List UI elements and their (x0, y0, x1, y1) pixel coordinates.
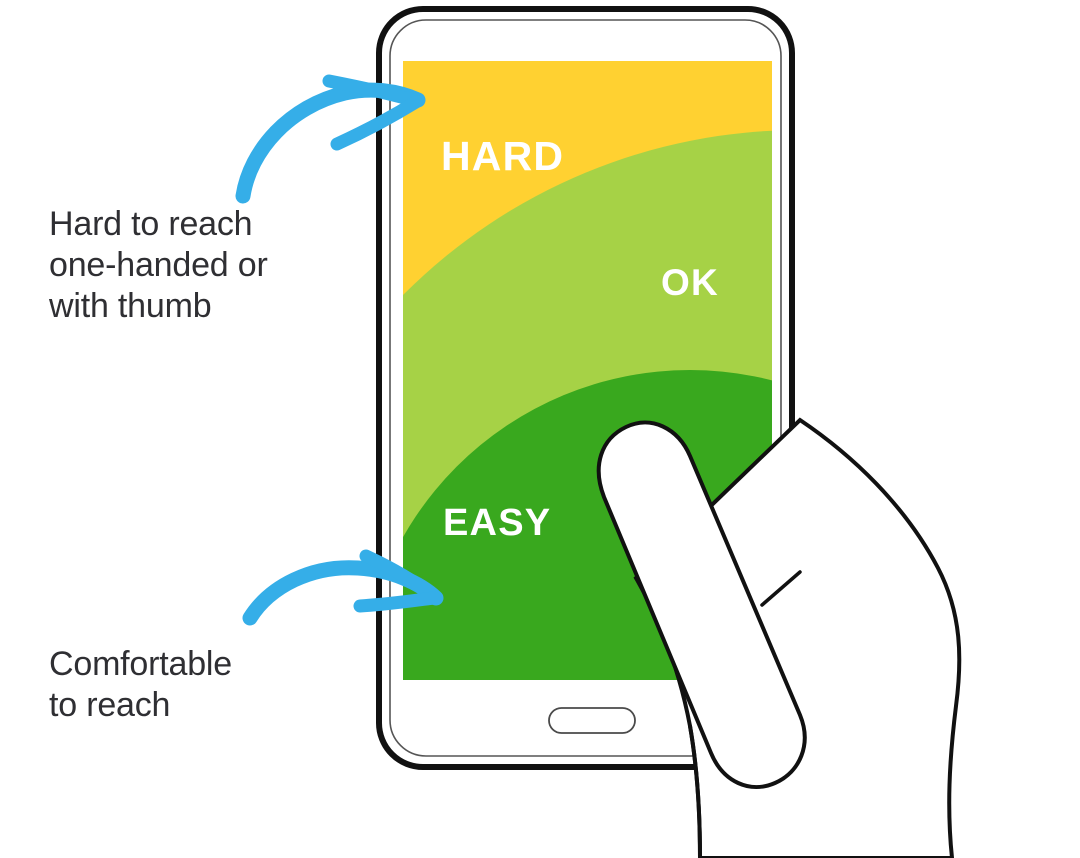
illustration-canvas: HARD OK EASY Hard (0, 0, 1080, 858)
callout-hard-text: Hard to reach one-handed or with thumb (49, 204, 369, 327)
zone-label-hard: HARD (441, 133, 564, 179)
callout-easy-text: Comfortable to reach (49, 644, 369, 726)
thumb-zone-illustration: HARD OK EASY (0, 0, 1080, 858)
zone-label-ok: OK (661, 262, 719, 303)
zone-label-easy: EASY (443, 502, 551, 544)
home-button[interactable] (549, 708, 635, 733)
